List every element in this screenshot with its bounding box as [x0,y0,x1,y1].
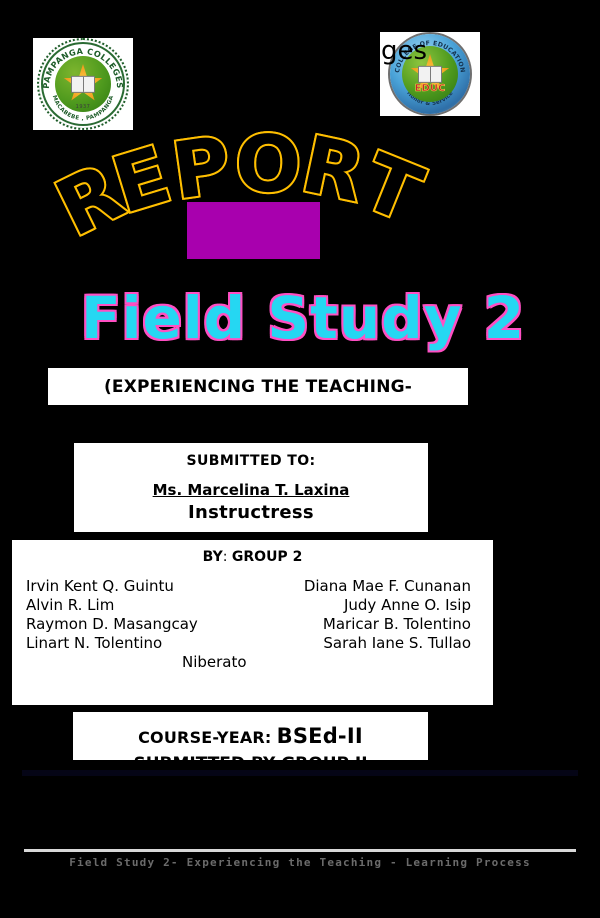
pampanga-colleges-logo: PAMPANGA COLLEGES MACABEBE , PAMPANGA 19… [33,38,133,130]
course-year-label: COURSE-YEAR: [138,728,271,747]
purple-rectangle-shape [187,202,320,259]
list-item: Alvin R. Lim [26,596,198,615]
instructor-title: Instructress [74,502,428,523]
subtitle-panel: (EXPERIENCING THE TEACHING- [48,368,468,405]
field-study-wordart: Field Study 2 [0,288,600,349]
list-item: Raymon D. Masangcay [26,615,198,634]
stray-text-fragment: ges [381,38,427,64]
seal-right-mark: EDUC [415,83,446,94]
list-item: Maricar B. Tolentino [304,615,471,634]
open-book-icon [71,76,95,93]
list-item: Judy Anne O. Isip [304,596,471,615]
submitted-to-label: SUBMITTED TO: [74,453,428,469]
by-separator: : [223,549,232,565]
footer-divider [24,849,576,852]
open-book-icon [418,66,442,83]
report-letter-2: P [168,126,235,211]
seal-left-year: 1937 [76,104,91,110]
by-group-line: BY: GROUP 2 [12,549,493,565]
list-item: Diana Mae F. Cunanan [304,577,471,596]
document-page: PAMPANGA COLLEGES MACABEBE , PAMPANGA 19… [0,0,600,918]
by-word: BY [203,549,223,565]
course-clipped-line: SUBMITTED BY GROUP II [73,754,428,760]
navy-divider-bar [22,770,578,776]
blank-overlay-panel [248,648,482,700]
group-label: GROUP 2 [232,549,302,565]
instructor-name: Ms. Marcelina T. Laxina [74,481,428,499]
course-year-line: COURSE-YEAR: BSEd-II [73,724,428,748]
subtitle-text: (EXPERIENCING THE TEACHING- [104,377,412,397]
submitted-to-panel: SUBMITTED TO: Ms. Marcelina T. Laxina In… [74,443,428,532]
footer-text: Field Study 2- Experiencing the Teaching… [0,856,600,869]
field-study-text: Field Study 2 [75,288,525,349]
list-item: Linart N. Tolentino [26,634,198,653]
members-column-right: Diana Mae F. Cunanan Judy Anne O. Isip M… [304,577,471,653]
course-year-value: BSEd-II [277,724,363,748]
pampanga-colleges-seal-icon: PAMPANGA COLLEGES MACABEBE , PAMPANGA 19… [37,38,129,130]
course-year-panel: COURSE-YEAR: BSEd-II SUBMITTED BY GROUP … [73,712,428,760]
report-letter-3: O [234,125,303,205]
members-column-left: Irvin Kent Q. Guintu Alvin R. Lim Raymon… [26,577,198,653]
list-item: Irvin Kent Q. Guintu [26,577,198,596]
